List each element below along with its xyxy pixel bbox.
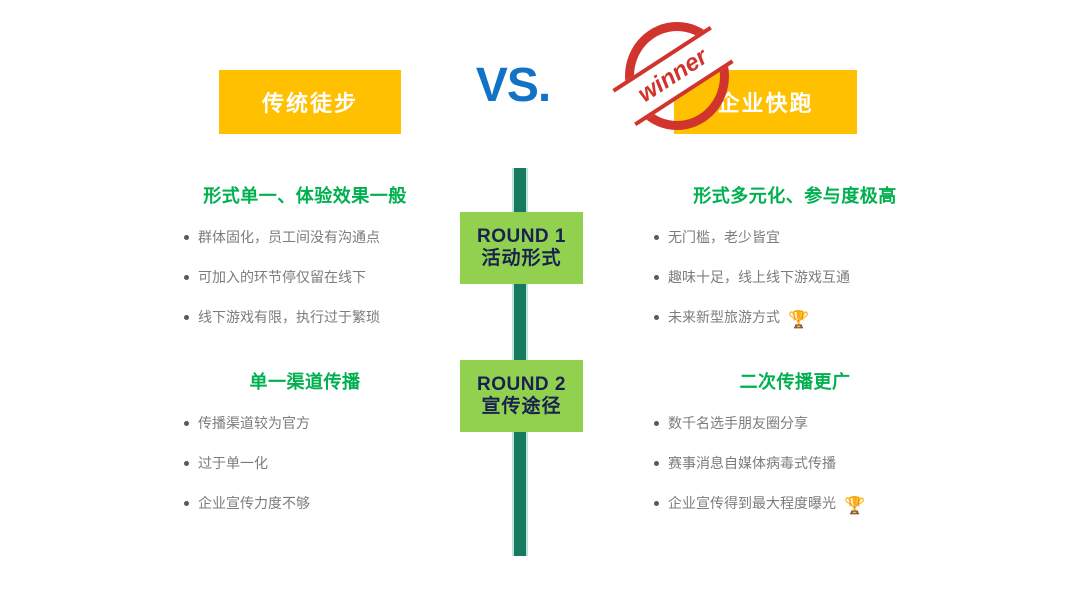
header-box-traditional: 传统徒步 (219, 70, 401, 134)
round-badge-2-cn: 宣传途径 (481, 396, 561, 419)
right-column-round1: 形式多元化、参与度极高 无门槛，老少皆宜 趣味十足，线上线下游戏互通 未来新型旅… (630, 186, 960, 354)
list-item: 趣味十足，线上线下游戏互通 (654, 270, 960, 284)
list-item-text: 未来新型旅游方式 (668, 309, 780, 325)
right-round2-heading: 二次传播更广 (630, 372, 960, 394)
left-round1-heading: 形式单一、体验效果一般 (140, 186, 470, 208)
header-box-enterprise-label: 企业快跑 (717, 86, 813, 118)
list-item-text: 无门槛，老少皆宜 (668, 229, 780, 245)
list-item: 企业宣传得到最大程度曝光🏆 (654, 496, 960, 514)
list-item-text: 趣味十足，线上线下游戏互通 (668, 269, 850, 285)
list-item: 企业宣传力度不够 (184, 496, 470, 510)
list-item: 无门槛，老少皆宜 (654, 230, 960, 244)
right-column-round2: 二次传播更广 数千名选手朋友圈分享 赛事消息自媒体病毒式传播 企业宣传得到最大程… (630, 372, 960, 540)
round-badge-1-en: ROUND 1 (477, 226, 566, 248)
list-item: 可加入的环节停仅留在线下 (184, 270, 470, 284)
list-item-text: 赛事消息自媒体病毒式传播 (668, 455, 836, 471)
list-item-text: 数千名选手朋友圈分享 (668, 415, 808, 431)
left-round2-bullets: 传播渠道较为官方 过于单一化 企业宣传力度不够 (140, 416, 470, 510)
header-box-traditional-label: 传统徒步 (262, 86, 358, 118)
round-badge-1: ROUND 1 活动形式 (460, 212, 583, 284)
left-round1-bullets: 群体固化，员工间没有沟通点 可加入的环节停仅留在线下 线下游戏有限，执行过于繁琐 (140, 230, 470, 324)
list-item: 传播渠道较为官方 (184, 416, 470, 430)
list-item-text: 企业宣传得到最大程度曝光 (668, 495, 836, 511)
list-item: 赛事消息自媒体病毒式传播 (654, 456, 960, 470)
left-column-round2: 单一渠道传播 传播渠道较为官方 过于单一化 企业宣传力度不够 (140, 372, 470, 536)
trophy-icon: 🏆 (788, 311, 809, 328)
left-column-round1: 形式单一、体验效果一般 群体固化，员工间没有沟通点 可加入的环节停仅留在线下 线… (140, 186, 470, 350)
right-round1-heading: 形式多元化、参与度极高 (630, 186, 960, 208)
vs-label: VS. (463, 62, 563, 110)
list-item: 过于单一化 (184, 456, 470, 470)
right-round1-bullets: 无门槛，老少皆宜 趣味十足，线上线下游戏互通 未来新型旅游方式🏆 (630, 230, 960, 328)
comparison-slide: 传统徒步 VS. 企业快跑 winner ROUND 1 活动形式 ROUND … (0, 0, 1071, 601)
list-item: 群体固化，员工间没有沟通点 (184, 230, 470, 244)
round-badge-2: ROUND 2 宣传途径 (460, 360, 583, 432)
trophy-icon: 🏆 (844, 497, 865, 514)
round-badge-2-en: ROUND 2 (477, 374, 566, 396)
round-badge-1-cn: 活动形式 (481, 248, 561, 271)
list-item: 数千名选手朋友圈分享 (654, 416, 960, 430)
header-box-enterprise: 企业快跑 (674, 70, 857, 134)
list-item: 线下游戏有限，执行过于繁琐 (184, 310, 470, 324)
right-round2-bullets: 数千名选手朋友圈分享 赛事消息自媒体病毒式传播 企业宣传得到最大程度曝光🏆 (630, 416, 960, 514)
list-item: 未来新型旅游方式🏆 (654, 310, 960, 328)
left-round2-heading: 单一渠道传播 (140, 372, 470, 394)
